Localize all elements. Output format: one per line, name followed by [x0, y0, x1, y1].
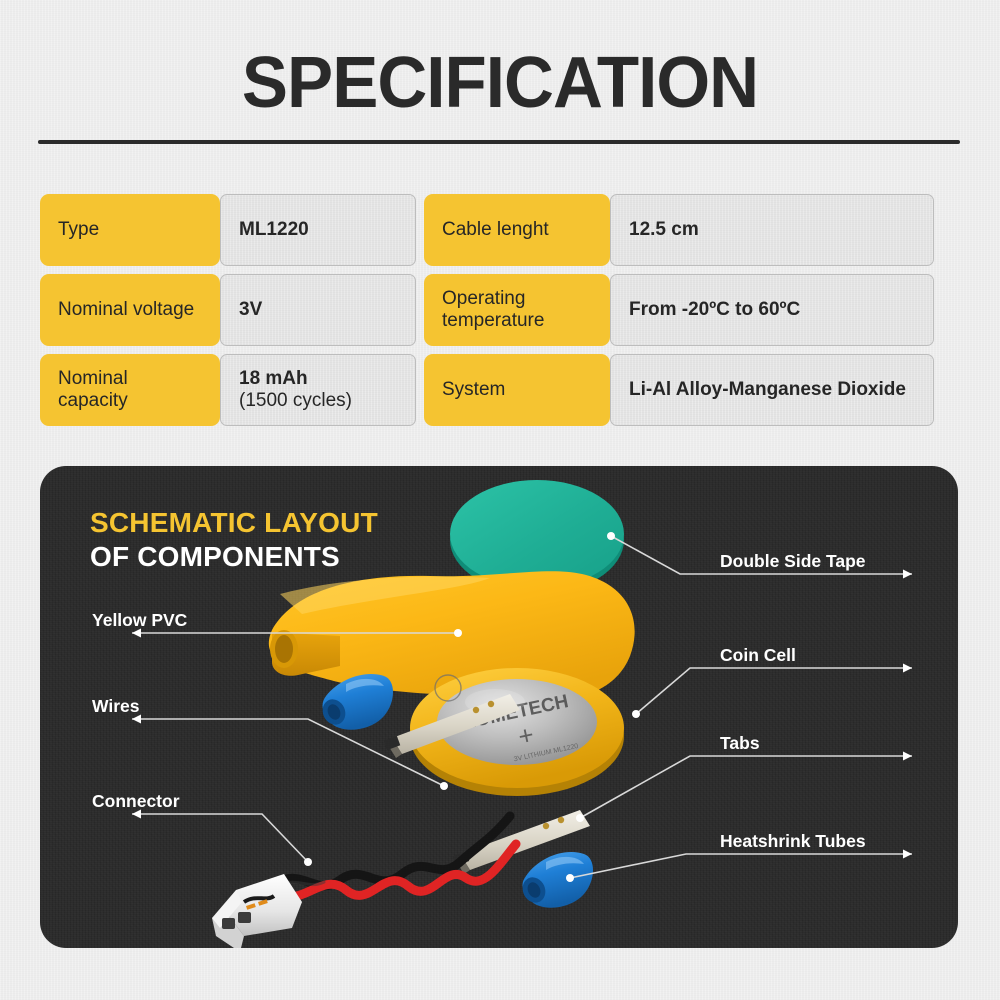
- callout-yellow-pvc: Yellow PVC: [92, 612, 187, 630]
- spec-value-type: ML1220: [220, 194, 416, 266]
- column-gap: [416, 274, 424, 346]
- spec-label-nominal-voltage: Nominal voltage: [40, 274, 220, 346]
- spec-value-type-text: ML1220: [239, 219, 309, 241]
- leader-dot-tabs: [576, 814, 584, 822]
- schematic-panel: ROMETECH + 3V LITHIUM ML1220: [40, 466, 958, 948]
- schematic-heading-line1: SCHEMATIC LAYOUT: [90, 506, 378, 540]
- callout-tabs: Tabs: [720, 735, 760, 753]
- callout-heatshrink-tubes-label: Heatshrink Tubes: [720, 833, 866, 851]
- spec-label-system: System: [424, 354, 610, 426]
- spec-value-operating-temperature: From -20ºC to 60ºC: [610, 274, 934, 346]
- leader-arrow-tape: [903, 570, 912, 579]
- callout-coin-cell: Coin Cell: [720, 647, 796, 665]
- page-header: SPECIFICATION: [0, 47, 1000, 119]
- spec-label-type: Type: [40, 194, 220, 266]
- specification-table: Type ML1220 Cable lenght 12.5 cm Nominal…: [40, 194, 960, 426]
- callout-double-side-tape: Double Side Tape: [720, 553, 866, 571]
- spec-value-operating-temperature-text: From -20ºC to 60ºC: [629, 299, 800, 321]
- schematic-heading: SCHEMATIC LAYOUT OF COMPONENTS: [90, 506, 378, 574]
- spec-label-operating-temperature: Operating temperature: [424, 274, 610, 346]
- page-title: SPECIFICATION: [20, 47, 980, 119]
- callout-coin-cell-label: Coin Cell: [720, 647, 796, 665]
- spec-value-nominal-capacity-subtext: (1500 cycles): [239, 390, 352, 412]
- leader-arrow-heatshrink: [903, 850, 912, 859]
- spec-value-nominal-capacity-text: 18 mAh: [239, 368, 308, 389]
- title-divider: [38, 140, 960, 144]
- spec-value-cable-length-text: 12.5 cm: [629, 219, 699, 241]
- leader-dot-connector: [304, 858, 312, 866]
- callout-connector-label: Connector: [92, 793, 180, 811]
- spec-value-nominal-capacity: 18 mAh (1500 cycles): [220, 354, 416, 426]
- leader-arrow-coin: [903, 664, 912, 673]
- leader-arrow-tabs: [903, 752, 912, 761]
- callout-tabs-label: Tabs: [720, 735, 760, 753]
- spec-label-cable-length: Cable lenght: [424, 194, 610, 266]
- spec-value-system: Li-Al Alloy-Manganese Dioxide: [610, 354, 934, 426]
- callout-connector: Connector: [92, 793, 180, 811]
- spec-value-system-text: Li-Al Alloy-Manganese Dioxide: [629, 379, 906, 401]
- callout-double-side-tape-label: Double Side Tape: [720, 553, 866, 571]
- column-gap: [416, 354, 424, 426]
- leader-dot-pvc: [454, 629, 462, 637]
- callout-yellow-pvc-label: Yellow PVC: [92, 612, 187, 630]
- spec-value-cable-length: 12.5 cm: [610, 194, 934, 266]
- leader-dot-heatshrink: [566, 874, 574, 882]
- spec-label-nominal-capacity: Nominal capacity: [40, 354, 220, 426]
- spec-value-nominal-voltage: 3V: [220, 274, 416, 346]
- callout-wires: Wires: [92, 698, 140, 716]
- leader-dot-tape: [607, 532, 615, 540]
- callout-wires-label: Wires: [92, 698, 140, 716]
- callout-heatshrink-tubes: Heatshrink Tubes: [720, 833, 866, 851]
- schematic-heading-line2: OF COMPONENTS: [90, 540, 378, 574]
- leader-dot-wires: [440, 782, 448, 790]
- leader-dot-coin: [632, 710, 640, 718]
- column-gap: [416, 194, 424, 266]
- spec-value-nominal-voltage-text: 3V: [239, 299, 262, 321]
